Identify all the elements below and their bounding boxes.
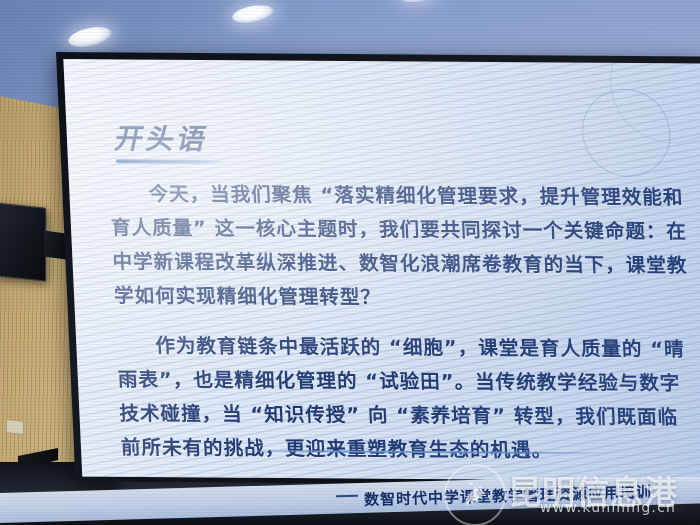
presentation-slide: 开头语 今天，当我们聚焦 “落实精细化管理要求，提升管理效能和育人质量” 这一核… <box>63 59 700 481</box>
led-screen: 开头语 今天，当我们聚焦 “落实精细化管理要求，提升管理效能和育人质量” 这一核… <box>56 52 700 504</box>
slide-paragraph: 今天，当我们聚焦 “落实精细化管理要求，提升管理效能和育人质量” 这一核心主题时… <box>109 177 693 317</box>
slide-body: 今天，当我们聚焦 “落实精细化管理要求，提升管理效能和育人质量” 这一核心主题时… <box>109 177 700 481</box>
speaker-bracket <box>44 230 66 259</box>
slide-title: 开头语 <box>112 117 207 158</box>
wall-speaker <box>0 202 46 281</box>
kunming-horse-logo-icon <box>444 464 506 525</box>
title-underline <box>116 159 228 164</box>
watermark-url: www.kunming.cn <box>540 500 676 516</box>
wall-outlet-plate <box>6 419 24 435</box>
slide-paragraph: 作为教育链条中最活跃的 “细胞”，课堂是育人质量的 “晴雨表”，也是精细化管理的… <box>116 329 700 469</box>
screen-bezel: 开头语 今天，当我们聚焦 “落实精细化管理要求，提升管理效能和育人质量” 这一核… <box>56 52 700 486</box>
photo-canvas: 开头语 今天，当我们聚焦 “落实精细化管理要求，提升管理效能和育人质量” 这一核… <box>0 0 700 525</box>
